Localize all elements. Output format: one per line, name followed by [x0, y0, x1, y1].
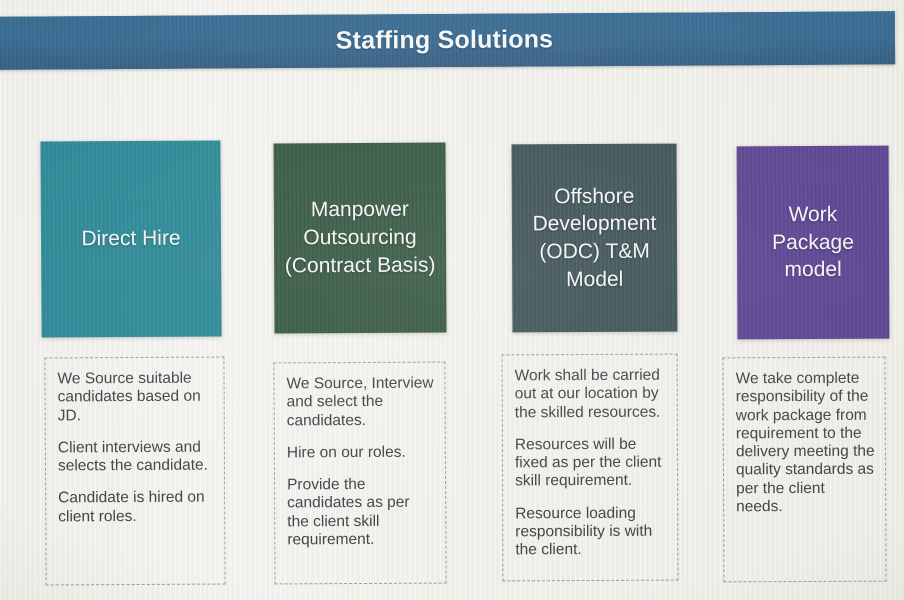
description-paragraph: We Source, Interview and select the cand… — [286, 375, 434, 431]
description-paragraph: Provide the candidates as per the client… — [287, 476, 435, 550]
description-paragraph: Hire on our roles. — [287, 443, 435, 462]
description-paragraph: Candidate is hired on client roles. — [58, 489, 214, 526]
description-paragraph: Resources will be fixed as per the clien… — [515, 436, 667, 492]
description-paragraph: Work shall be carried out at our locatio… — [515, 367, 667, 423]
description-box-direct-hire: We Source suitable candidates based on J… — [44, 357, 225, 586]
description-paragraph: Client interviews and selects the candid… — [58, 438, 214, 475]
description-paragraph: We take complete responsibility of the w… — [736, 370, 876, 517]
description-box-offshore-development: Work shall be carried out at our locatio… — [502, 354, 679, 582]
presentation-slide: Staffing Solutions Direct Hire Manpower … — [0, 0, 904, 600]
description-box-work-package-model: We take complete responsibility of the w… — [723, 357, 887, 583]
description-boxes: We Source suitable candidates based on J… — [0, 0, 904, 600]
description-paragraph: We Source suitable candidates based on J… — [57, 370, 213, 426]
description-paragraph: Resource loading responsibility is with … — [515, 504, 667, 560]
description-box-manpower-outsourcing: We Source, Interview and select the cand… — [273, 362, 446, 585]
